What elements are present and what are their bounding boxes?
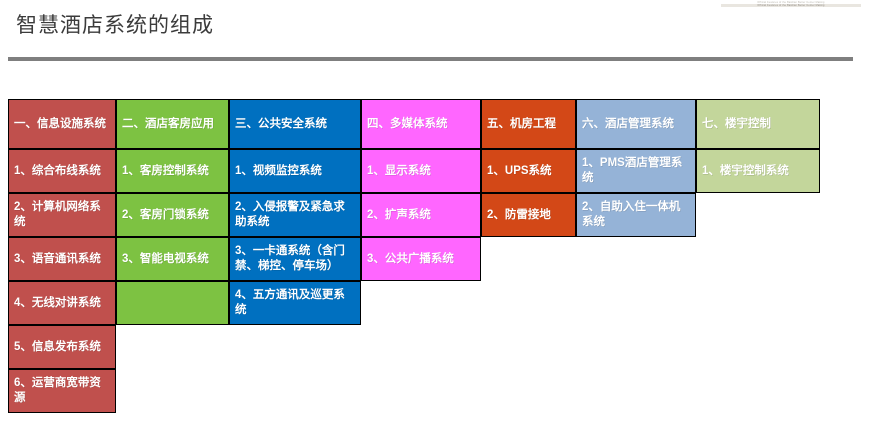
table-cell[interactable]: 1、UPS系统 xyxy=(481,149,576,193)
table-cell[interactable]: 3、语音通讯系统 xyxy=(8,237,116,281)
column-header-2: 二、酒店客房应用 xyxy=(116,99,229,149)
watermark: Official Features of the Baishan Better … xyxy=(721,1,861,7)
title-divider xyxy=(8,57,853,61)
table-cell-empty xyxy=(116,281,229,325)
table-column-1: 一、信息设施系统 1、综合布线系统 2、计算机网络系统 3、语音通讯系统 4、无… xyxy=(8,99,116,413)
column-header-5: 五、机房工程 xyxy=(481,99,576,149)
table-cell[interactable]: 5、信息发布系统 xyxy=(8,325,116,369)
table-cell[interactable]: 6、运营商宽带资源 xyxy=(8,369,116,413)
table-column-4: 四、多媒体系统 1、显示系统 2、扩声系统 3、公共广播系统 xyxy=(361,99,481,281)
table-column-2: 二、酒店客房应用 1、客房控制系统 2、客房门锁系统 3、智能电视系统 xyxy=(116,99,229,325)
system-composition-table: 一、信息设施系统 1、综合布线系统 2、计算机网络系统 3、语音通讯系统 4、无… xyxy=(8,99,820,413)
table-cell[interactable]: 2、扩声系统 xyxy=(361,193,481,237)
column-header-4: 四、多媒体系统 xyxy=(361,99,481,149)
table-cell[interactable]: 3、一卡通系统（含门禁、梯控、停车场） xyxy=(229,237,361,281)
table-cell[interactable]: 2、计算机网络系统 xyxy=(8,193,116,237)
table-cell[interactable]: 2、自助入住一体机系统 xyxy=(576,193,696,237)
table-cell[interactable]: 2、防雷接地 xyxy=(481,193,576,237)
table-cell[interactable]: 1、综合布线系统 xyxy=(8,149,116,193)
table-cell[interactable]: 2、客房门锁系统 xyxy=(116,193,229,237)
column-header-6: 六、酒店管理系统 xyxy=(576,99,696,149)
table-column-7: 七、楼宇控制 1、楼宇控制系统 xyxy=(696,99,820,193)
table-cell[interactable]: 1、楼宇控制系统 xyxy=(696,149,820,193)
table-cell[interactable]: 1、显示系统 xyxy=(361,149,481,193)
table-cell[interactable]: 3、公共广播系统 xyxy=(361,237,481,281)
table-cell[interactable]: 1、PMS酒店管理系统 xyxy=(576,149,696,193)
table-cell[interactable]: 1、视频监控系统 xyxy=(229,149,361,193)
table-cell[interactable]: 1、客房控制系统 xyxy=(116,149,229,193)
table-column-5: 五、机房工程 1、UPS系统 2、防雷接地 xyxy=(481,99,576,237)
column-header-1: 一、信息设施系统 xyxy=(8,99,116,149)
column-header-3: 三、公共安全系统 xyxy=(229,99,361,149)
table-cell[interactable]: 3、智能电视系统 xyxy=(116,237,229,281)
table-cell[interactable]: 2、入侵报警及紧急求助系统 xyxy=(229,193,361,237)
watermark-line-2: Official Features of the Baishan Better … xyxy=(721,4,861,7)
table-column-6: 六、酒店管理系统 1、PMS酒店管理系统 2、自助入住一体机系统 xyxy=(576,99,696,237)
table-cell[interactable]: 4、五方通讯及巡更系统 xyxy=(229,281,361,325)
page-title: 智慧酒店系统的组成 xyxy=(16,9,214,39)
table-cell[interactable]: 4、无线对讲系统 xyxy=(8,281,116,325)
table-column-3: 三、公共安全系统 1、视频监控系统 2、入侵报警及紧急求助系统 3、一卡通系统（… xyxy=(229,99,361,325)
column-header-7: 七、楼宇控制 xyxy=(696,99,820,149)
